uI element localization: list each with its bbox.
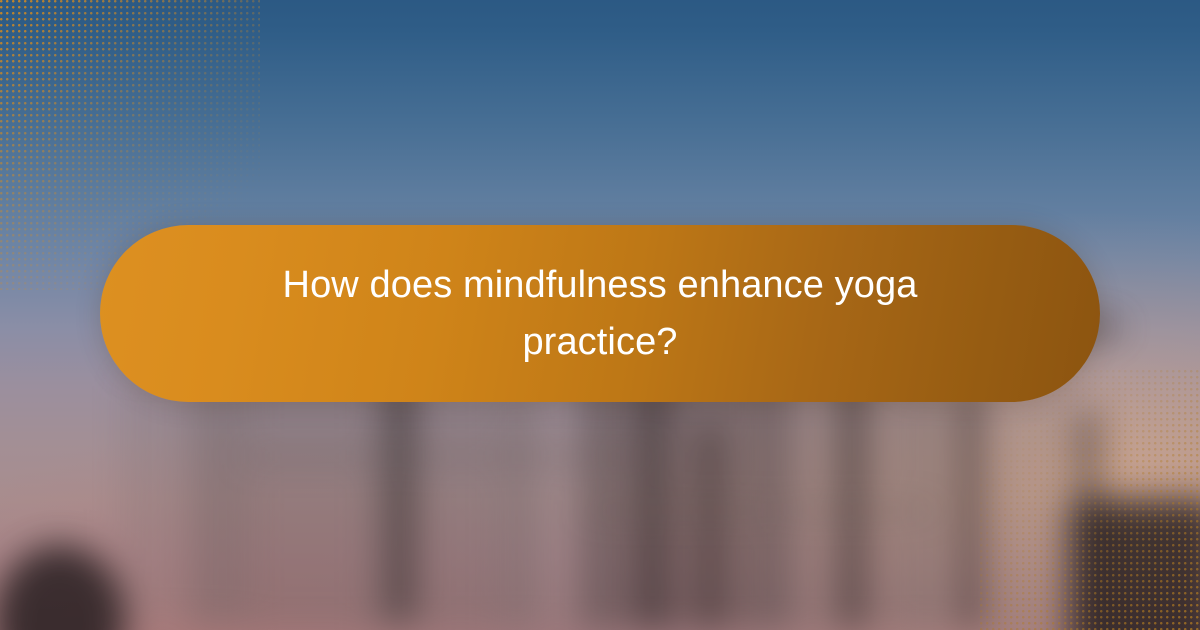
question-pill: How does mindfulness enhance yoga practi… <box>100 225 1100 402</box>
question-text: How does mindfulness enhance yoga practi… <box>240 257 960 369</box>
question-card-canvas: How does mindfulness enhance yoga practi… <box>0 0 1200 630</box>
